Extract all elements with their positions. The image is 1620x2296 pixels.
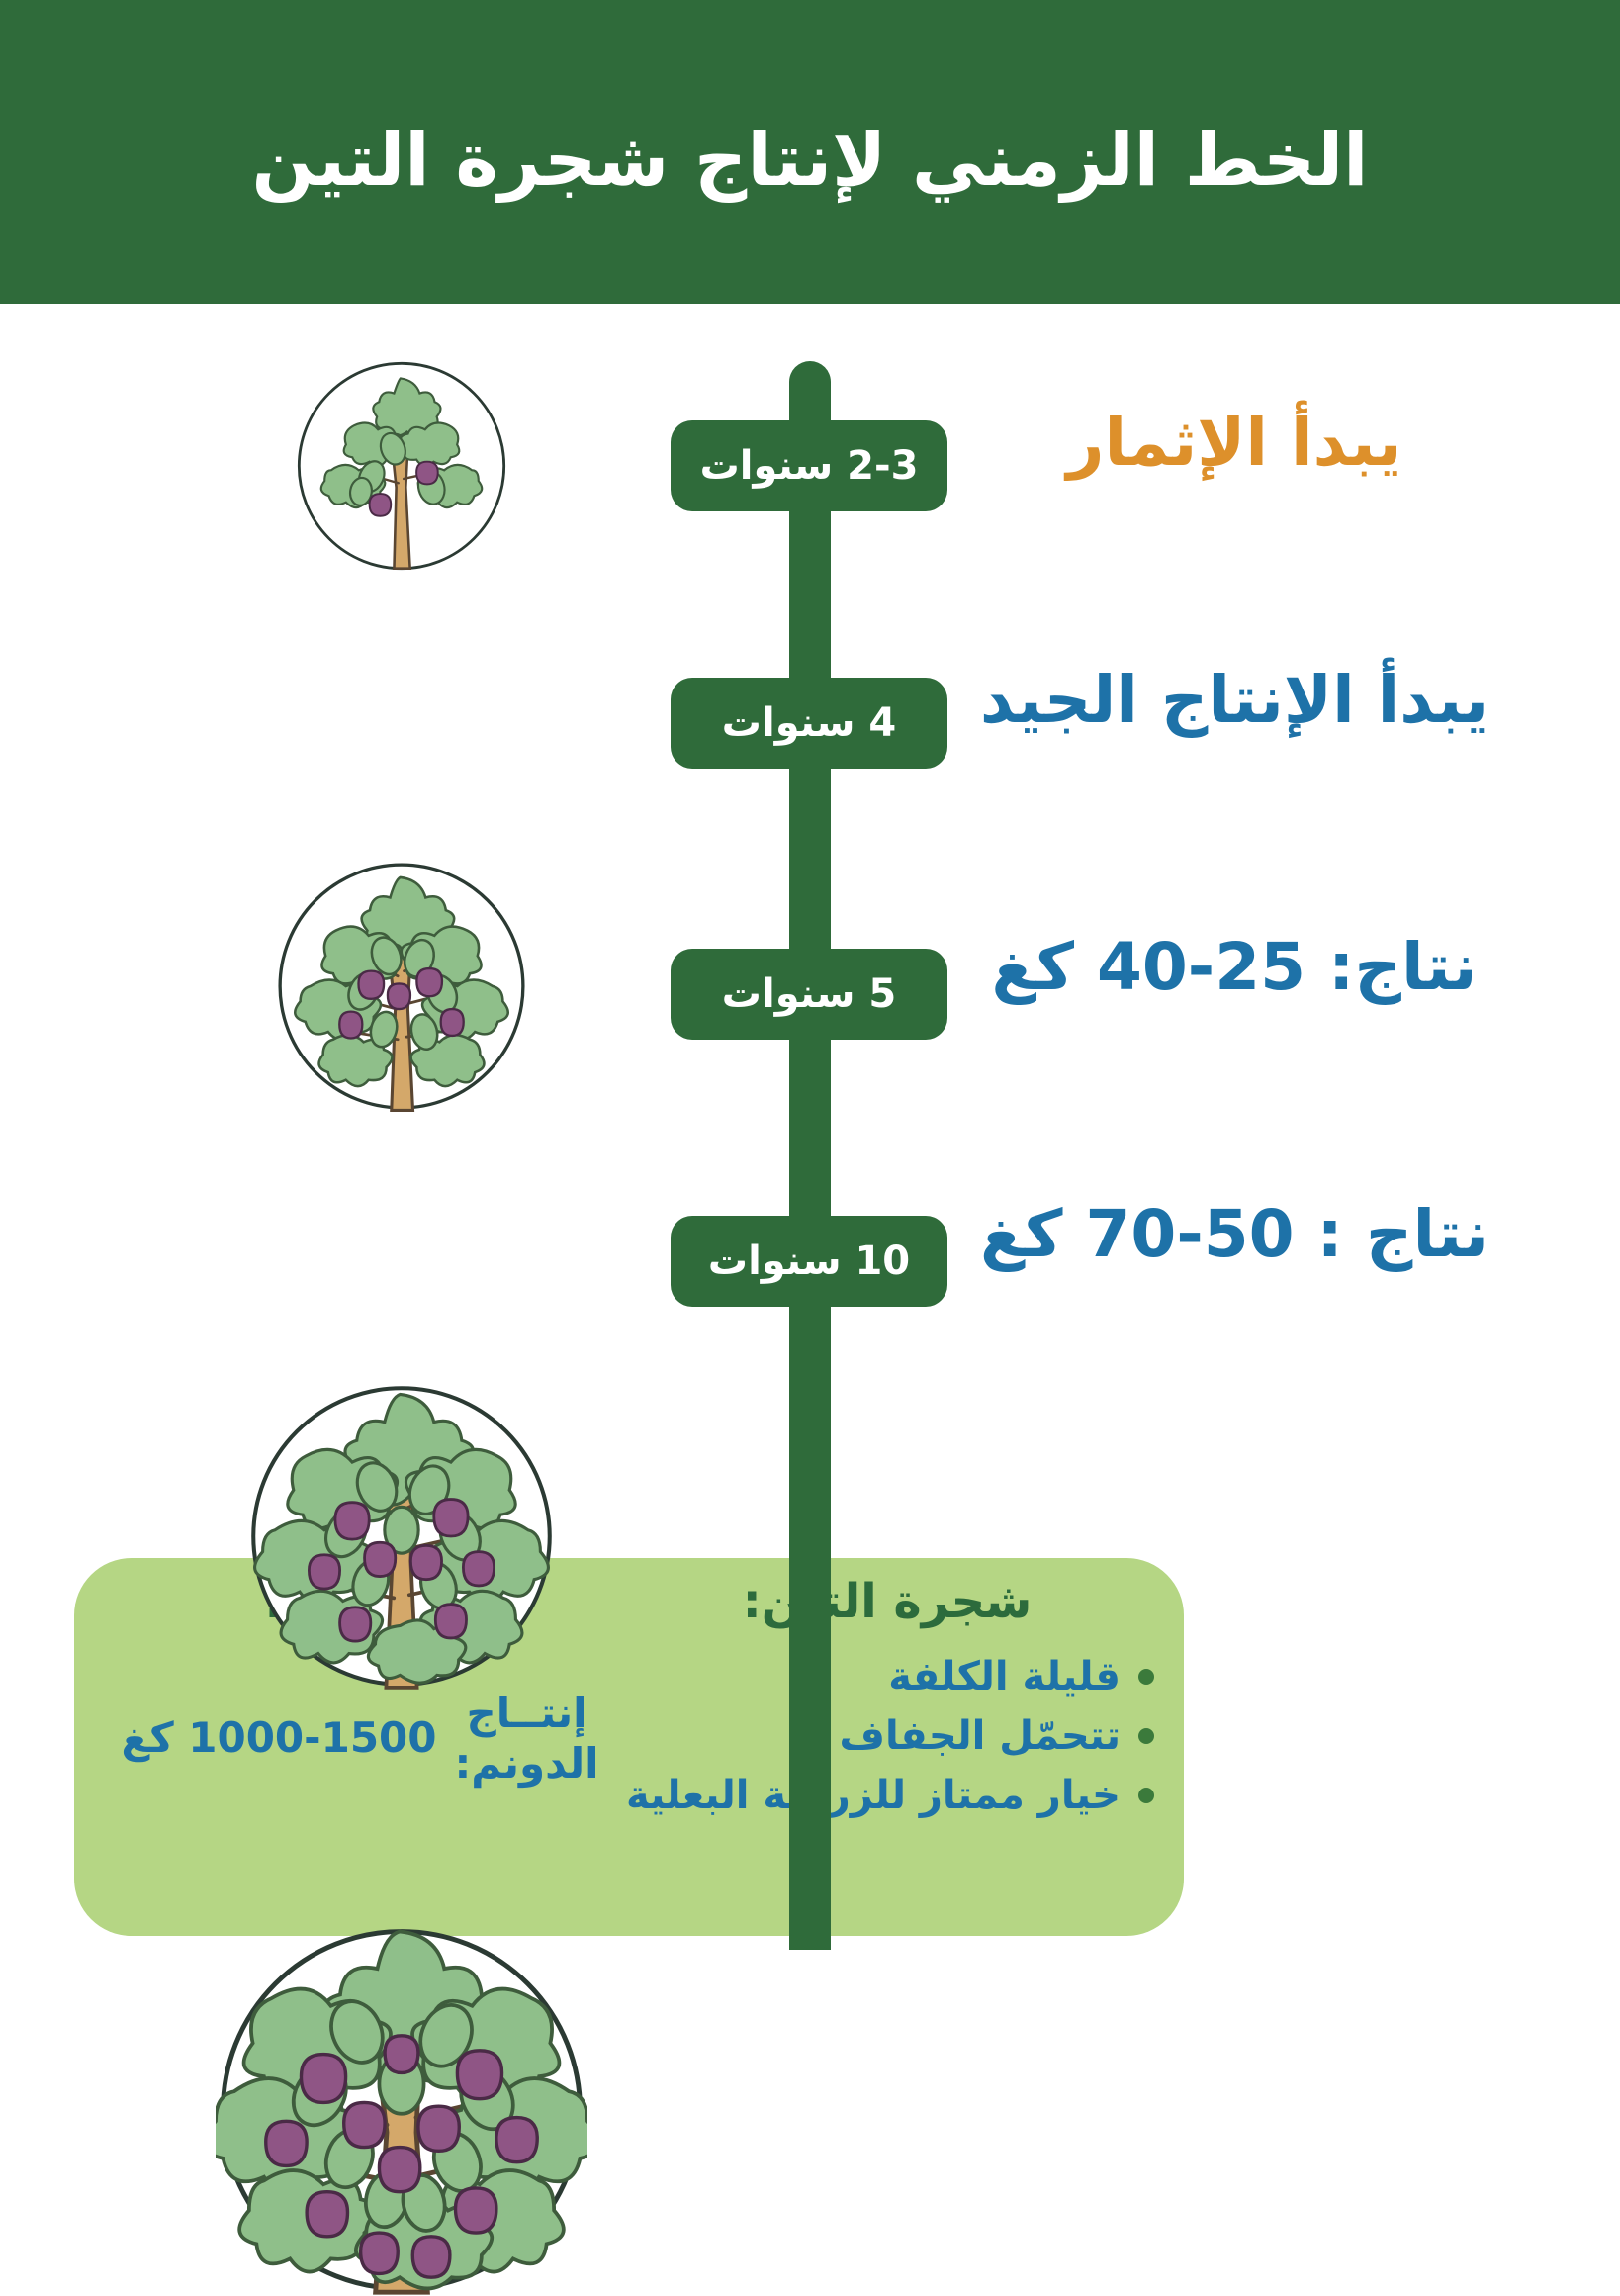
note-label: إنتــاج الدونم: (453, 1688, 601, 1789)
fig-tree-mature-icon (216, 1924, 587, 2296)
fig-tree-benefits-block: شجرة التين: قليلة الكلفة تتحمّل الجفاف خ… (620, 1576, 1154, 1828)
fig-tree-growing-icon (247, 1382, 556, 1691)
timeline-label-0: يبدأ الإثمار (918, 407, 1551, 480)
timeline-label-3: نتاج : 50-70 كغ (918, 1198, 1551, 1271)
fig-tree-sapling-icon (295, 359, 508, 573)
timeline-label-2: نتاج: 25-40 كغ (918, 931, 1551, 1004)
list-item: خيار ممتاز للزراعة البعلية (620, 1769, 1154, 1822)
info-panel: شجرة التين: قليلة الكلفة تتحمّل الجفاف خ… (74, 1558, 1184, 1936)
benefit-text: تتحمّل الجفاف (840, 1709, 1121, 1763)
benefits-heading: شجرة التين: (620, 1576, 1154, 1628)
list-item: قليلة الكلفة (620, 1650, 1154, 1703)
timeline-badge-3[interactable]: 10 سنوات (671, 1216, 947, 1307)
timeline-badge-1[interactable]: 4 سنوات (671, 678, 947, 769)
bullet-dot-icon (1138, 1669, 1154, 1685)
fig-tree-young-icon (275, 860, 528, 1113)
page-title: الخط الزمني لإنتاج شجرة التين (212, 101, 1407, 203)
note-value: 1000-1500 كغ (122, 1712, 437, 1763)
benefit-text: خيار ممتاز للزراعة البعلية (626, 1769, 1121, 1822)
benefits-list: قليلة الكلفة تتحمّل الجفاف خيار ممتاز لل… (620, 1650, 1154, 1822)
timeline-label-1: يبدأ الإنتاج الجيد (918, 664, 1551, 737)
timeline-badge-2[interactable]: 5 سنوات (671, 949, 947, 1040)
timeline-spine (789, 361, 831, 1950)
note-body: إنتــاج الدونم: 1000-1500 كغ (114, 1688, 608, 1789)
benefit-text: قليلة الكلفة (888, 1650, 1121, 1703)
list-item: تتحمّل الجفاف (620, 1709, 1154, 1763)
timeline-stage: 2-3 سنوات يبدأ الإثمار (0, 304, 1620, 2026)
page-header: الخط الزمني لإنتاج شجرة التين (0, 0, 1620, 304)
bullet-dot-icon (1138, 1728, 1154, 1744)
bullet-dot-icon (1138, 1788, 1154, 1803)
timeline-badge-0[interactable]: 2-3 سنوات (671, 420, 947, 511)
